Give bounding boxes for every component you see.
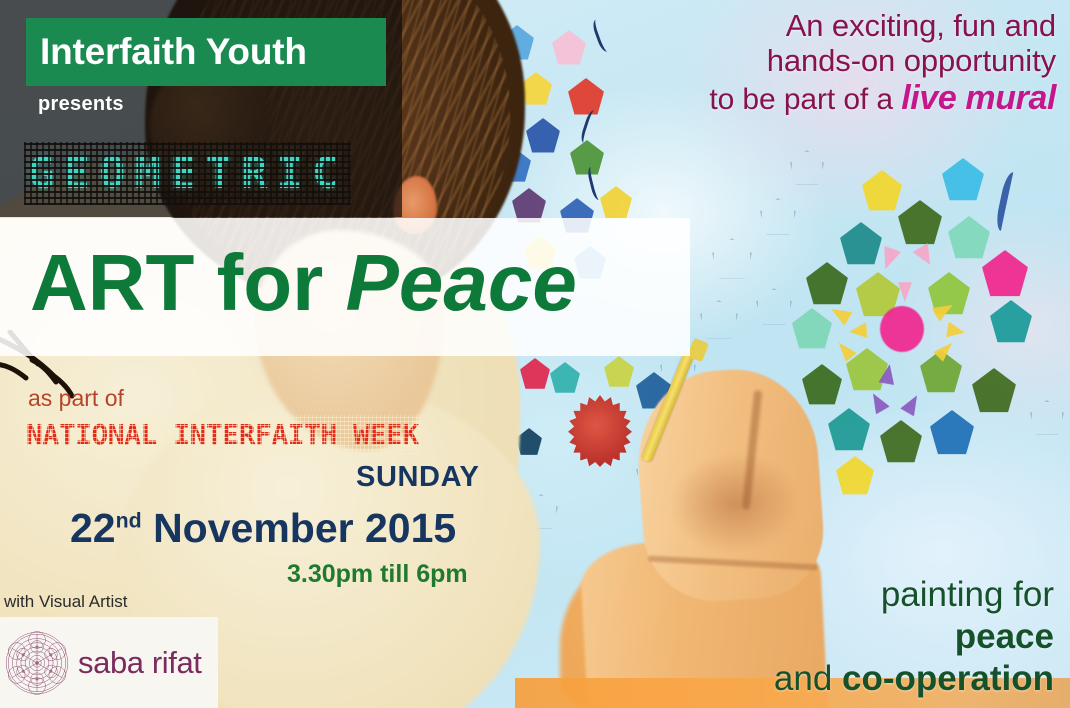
mandala-logo-icon	[2, 628, 72, 698]
presents-label: presents	[38, 93, 124, 116]
promo-line-1: An exciting, fun and	[496, 8, 1056, 43]
mural-triangle	[877, 246, 901, 273]
mural-shape	[526, 118, 560, 154]
mural-shape	[990, 300, 1032, 344]
tagline-peace: peace	[955, 617, 1054, 656]
mural-outline-shape	[712, 238, 752, 280]
mural-shape	[880, 306, 924, 352]
poster-canvas: Interfaith Youth presents GEOMETRIC An e…	[0, 0, 1070, 708]
mural-shape	[982, 250, 1028, 298]
event-date-ordinal: nd	[116, 508, 142, 532]
series-title: GEOMETRIC	[28, 148, 347, 199]
mural-shape	[828, 408, 870, 452]
mural-shape	[570, 140, 604, 176]
mural-outline-shape	[760, 198, 796, 236]
mural-triangle	[898, 282, 912, 302]
mural-outline-shape	[1030, 400, 1064, 436]
mural-triangle	[866, 389, 890, 414]
campaign-name: NATIONAL INTERFAITH WEEK	[26, 418, 419, 451]
mural-shape	[840, 222, 882, 266]
event-time: 3.30pm till 6pm	[287, 560, 468, 589]
mural-shape	[806, 262, 848, 306]
mural-squiggle	[994, 171, 1024, 233]
tagline-and: and	[774, 659, 832, 698]
mural-shape	[898, 200, 942, 246]
mural-shape	[802, 364, 842, 406]
tagline-block: painting for peace and co-operation	[774, 574, 1054, 700]
mural-outline-shape	[700, 300, 738, 340]
promo-text-block: An exciting, fun and hands-on opportunit…	[496, 8, 1056, 117]
mural-triangle	[900, 391, 924, 416]
promo-highlight-live-mural: live mural	[901, 79, 1056, 117]
mural-shape	[792, 308, 832, 350]
mural-outline-shape	[756, 288, 792, 326]
promo-line-2: hands-on opportunity	[496, 43, 1056, 78]
artist-label: with Visual Artist	[4, 592, 127, 612]
mural-triangle	[848, 322, 867, 340]
mural-outline-shape	[790, 150, 824, 186]
tagline-line-2: peace	[774, 616, 1054, 658]
mural-shape	[550, 362, 580, 394]
main-title-for: for	[217, 238, 324, 327]
mural-triangle	[912, 243, 938, 269]
mural-shape	[836, 456, 874, 496]
event-date: 22nd November 2015	[70, 505, 456, 552]
event-date-monthyear: November 2015	[153, 505, 456, 551]
mural-shape	[948, 216, 990, 260]
mural-shape	[972, 368, 1016, 414]
tagline-cooperation: co-operation	[842, 659, 1054, 698]
mural-squiggle	[586, 165, 606, 201]
mural-shape	[930, 410, 974, 456]
mural-triangle	[827, 302, 852, 326]
artist-name: saba rifat	[78, 645, 202, 681]
mural-shape	[600, 186, 632, 220]
mural-shape	[520, 358, 550, 390]
promo-line-3: to be part of a live mural	[496, 79, 1056, 118]
event-date-number: 22	[70, 505, 116, 551]
artist-logo-box: saba rifat	[0, 617, 218, 708]
tagline-line-1: painting for	[774, 574, 1054, 616]
tagline-line-3: and co-operation	[774, 658, 1054, 700]
main-title: ART for Peace	[30, 243, 577, 323]
mural-shape	[604, 356, 634, 388]
mural-triangle	[946, 322, 967, 341]
mural-starburst-shape	[566, 395, 634, 467]
mural-shape	[862, 170, 902, 212]
main-title-peace: Peace	[346, 238, 577, 327]
organisation-banner: Interfaith Youth	[26, 18, 386, 86]
mural-shape	[942, 158, 984, 202]
as-part-of-label: as part of	[28, 385, 124, 412]
mural-shape	[880, 420, 922, 464]
organisation-name: Interfaith Youth	[40, 31, 307, 73]
event-day: SUNDAY	[356, 461, 479, 494]
promo-line-3-prefix: to be part of a	[709, 83, 893, 116]
main-title-art: ART	[30, 238, 194, 327]
